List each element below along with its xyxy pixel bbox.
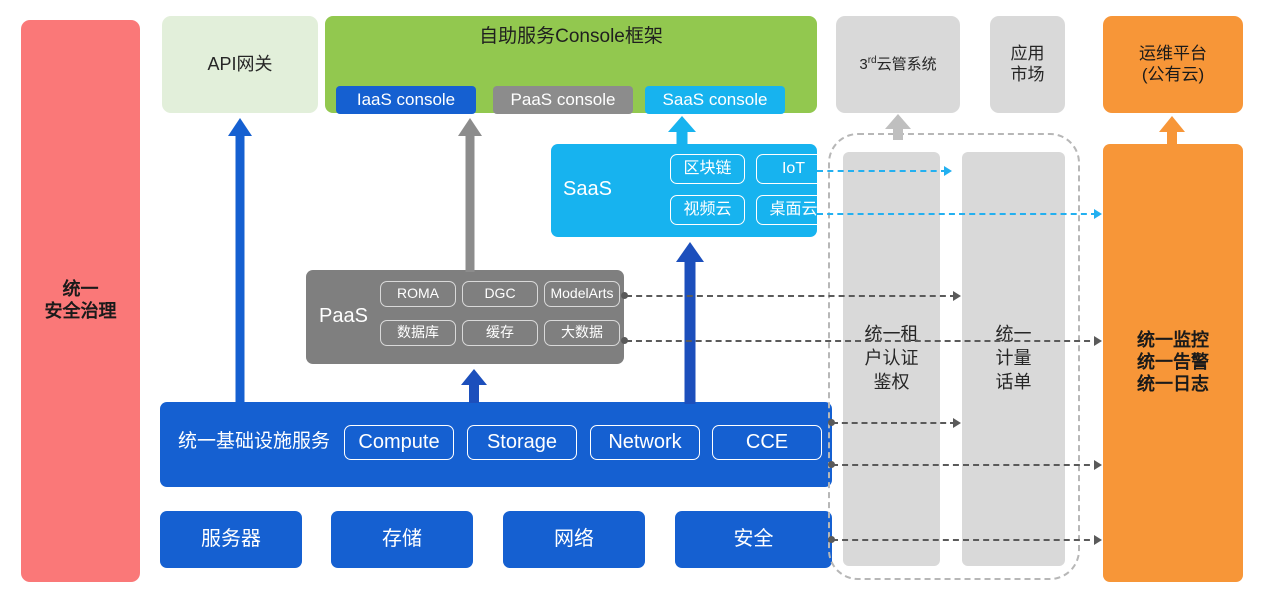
dashed-arrowhead-resources-to-ops <box>1094 535 1102 545</box>
resource-box-server[interactable]: 服务器 <box>160 511 302 568</box>
arrow-paas-to-console <box>458 118 482 272</box>
paas-chip-modelarts[interactable]: ModelArts <box>544 281 620 307</box>
saas-chip-desktop-cloud[interactable]: 桌面云 <box>756 195 831 225</box>
saas-console-chip[interactable]: SaaS console <box>645 86 785 114</box>
paas-console-chip[interactable]: PaaS console <box>493 86 633 114</box>
dashed-line-saas-to-ops <box>817 213 1097 215</box>
third-party-label: 3rd云管系统 <box>859 55 936 74</box>
security-governance-bar: 统一 安全治理 <box>21 20 140 582</box>
infrastructure-services-bar: 统一基础设施服务 Compute Storage Network CCE <box>160 402 832 487</box>
dashed-arrowhead-paas-to-auth <box>953 291 961 301</box>
paas-chip-roma[interactable]: ROMA <box>380 281 456 307</box>
ops-platform-monitoring-box: 统一监控 统一告警 统一日志 <box>1103 144 1243 582</box>
arrow-ops-tall-to-ops-top <box>1159 116 1185 146</box>
paas-chip-bigdata[interactable]: 大数据 <box>544 320 620 346</box>
dashed-line-paas-to-ops <box>626 340 1100 342</box>
dashed-arrowhead-saas-to-ops <box>1094 209 1102 219</box>
architecture-diagram: 统一 安全治理 API网关 自助服务Console框架 IaaS console… <box>0 0 1265 605</box>
dashed-line-infra-to-auth <box>832 422 956 424</box>
infra-chip-cce[interactable]: CCE <box>712 425 822 460</box>
infrastructure-label: 统一基础设施服务 <box>178 430 330 453</box>
infra-chip-compute[interactable]: Compute <box>344 425 454 460</box>
third-party-superscript: rd <box>868 55 877 66</box>
iaas-console-chip[interactable]: IaaS console <box>336 86 476 114</box>
third-party-cloud-mgmt-box: 3rd云管系统 <box>836 16 960 113</box>
infra-chip-storage[interactable]: Storage <box>467 425 577 460</box>
arrow-saas-to-console <box>668 116 696 146</box>
dashed-arrowhead-infra-to-ops <box>1094 460 1102 470</box>
dashed-line-paas-to-auth <box>626 295 956 297</box>
third-party-prefix: 3 <box>859 56 867 73</box>
dashed-line-resources-to-ops <box>832 539 1100 541</box>
api-gateway-box: API网关 <box>162 16 318 113</box>
saas-chip-iot[interactable]: IoT <box>756 154 831 184</box>
dashed-arrowhead-infra-to-auth <box>953 418 961 428</box>
third-party-rest: 云管系统 <box>877 56 937 73</box>
arrow-infra-to-saas <box>676 242 704 404</box>
app-market-box: 应用 市场 <box>990 16 1065 113</box>
dashed-line-saas-to-auth <box>817 170 947 172</box>
arrow-infra-to-api-gateway <box>228 118 252 404</box>
paas-chip-dgc[interactable]: DGC <box>462 281 538 307</box>
paas-chip-database[interactable]: 数据库 <box>380 320 456 346</box>
arrow-infra-to-paas <box>461 369 487 403</box>
saas-chip-video-cloud[interactable]: 视频云 <box>670 195 745 225</box>
saas-block: SaaS 区块链 IoT 视频云 桌面云 <box>551 144 817 237</box>
ops-platform-public-cloud-box: 运维平台 (公有云) <box>1103 16 1243 113</box>
saas-chip-blockchain[interactable]: 区块链 <box>670 154 745 184</box>
dashed-line-infra-to-ops <box>832 464 1100 466</box>
resource-box-storage[interactable]: 存储 <box>331 511 473 568</box>
console-framework-box: 自助服务Console框架 IaaS console PaaS console … <box>325 16 817 113</box>
arrow-shared-to-third-party <box>885 114 911 140</box>
paas-chip-cache[interactable]: 缓存 <box>462 320 538 346</box>
saas-label: SaaS <box>563 177 612 201</box>
dashed-arrowhead-saas-to-auth <box>944 166 952 176</box>
paas-block: PaaS ROMA DGC ModelArts 数据库 缓存 大数据 <box>306 270 624 364</box>
console-framework-title: 自助服务Console框架 <box>325 25 817 48</box>
dashed-arrowhead-paas-to-ops <box>1094 336 1102 346</box>
paas-label: PaaS <box>319 304 368 328</box>
resource-box-network[interactable]: 网络 <box>503 511 645 568</box>
infra-chip-network[interactable]: Network <box>590 425 700 460</box>
resource-box-security[interactable]: 安全 <box>675 511 832 568</box>
